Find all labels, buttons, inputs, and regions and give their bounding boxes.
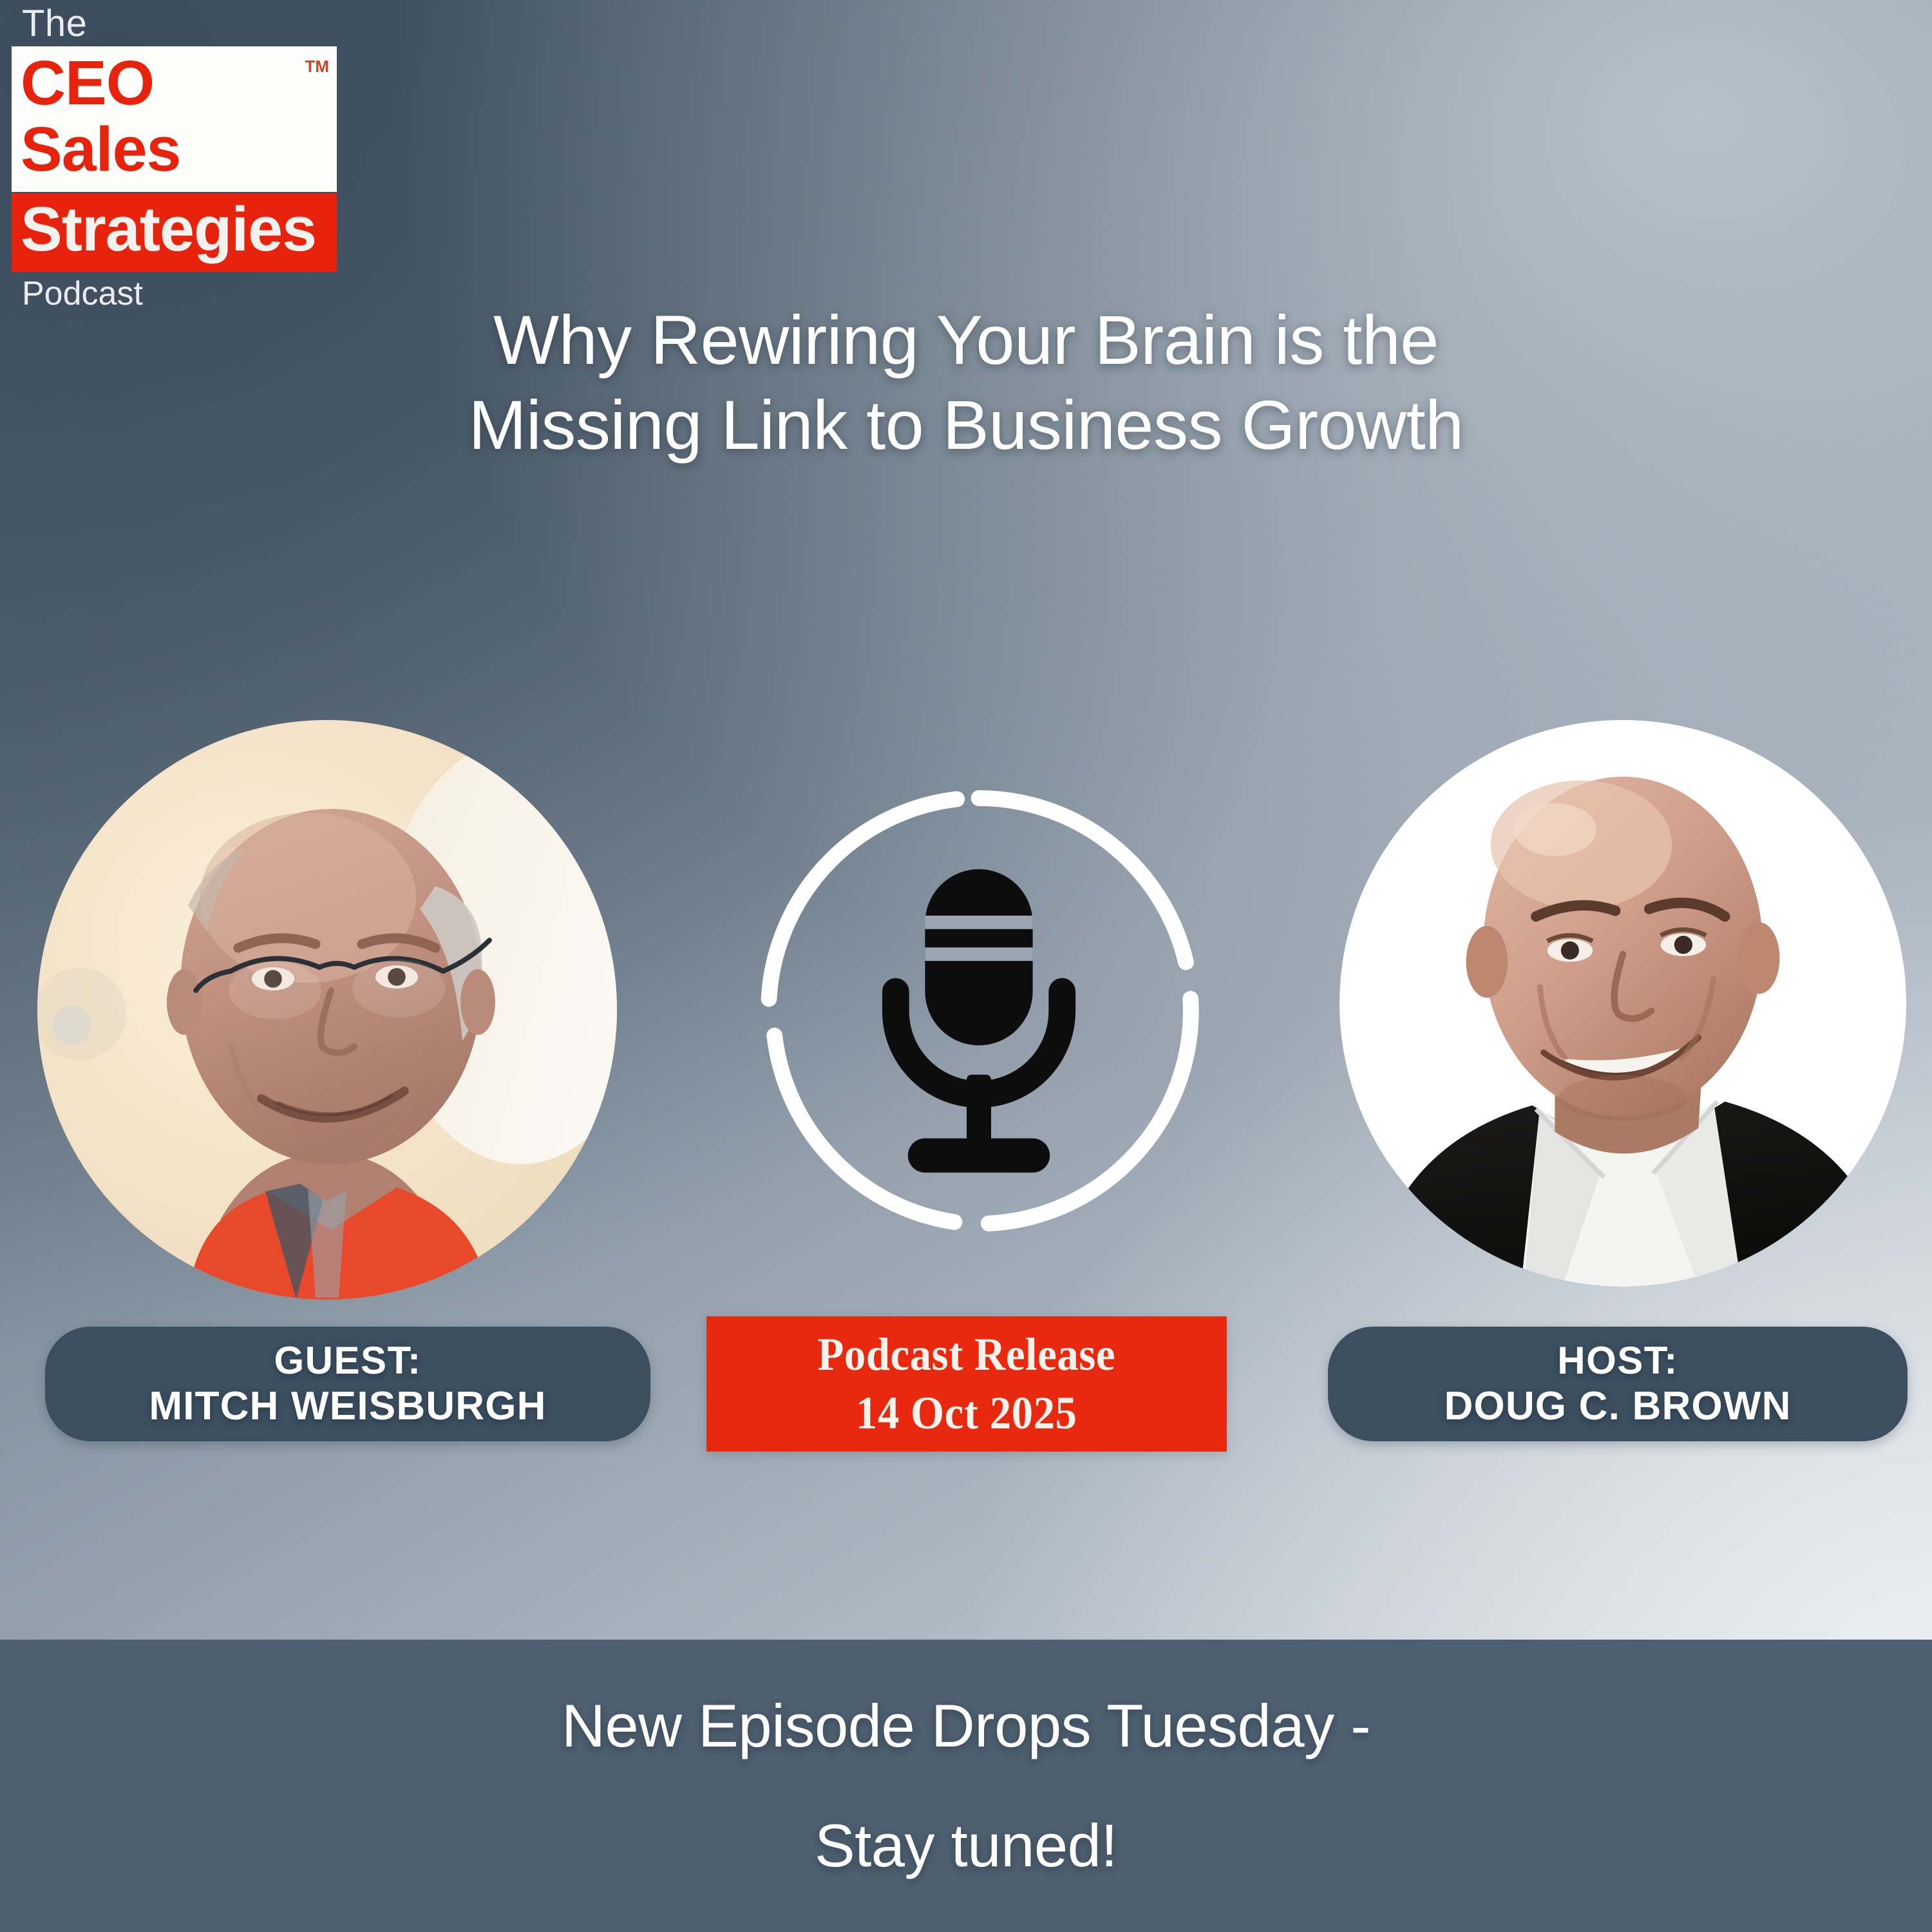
host-role-label: HOST:	[1557, 1338, 1678, 1383]
guest-role-label: GUEST:	[274, 1338, 421, 1383]
episode-title-line2: Missing Link to Business Growth	[116, 383, 1816, 468]
guest-name-label: MITCH WEISBURGH	[149, 1383, 546, 1430]
episode-title: Why Rewiring Your Brain is the Missing L…	[0, 298, 1932, 468]
footer-banner: New Episode Drops Tuesday - Stay tuned!	[0, 1640, 1932, 1932]
microphone-icon	[896, 869, 1062, 1173]
brand-name-line2-box: Strategies	[12, 193, 337, 272]
brand-name-line1: CEO Sales	[21, 50, 328, 183]
podcast-promo-graphic: The CEO Sales TM Strategies Podcast Why …	[0, 0, 1932, 1932]
brand-the-label: The	[12, 5, 353, 43]
brand-logo: The CEO Sales TM Strategies Podcast	[12, 5, 353, 310]
episode-title-line1: Why Rewiring Your Brain is the	[493, 301, 1439, 379]
trademark-icon: TM	[305, 57, 329, 77]
host-name-badge: HOST: DOUG C. BROWN	[1328, 1327, 1908, 1441]
brand-name-line1-box: CEO Sales TM	[12, 46, 337, 192]
brand-name-line2: Strategies	[21, 196, 328, 263]
release-label: Podcast Release	[818, 1325, 1116, 1384]
guest-name-badge: GUEST: MITCH WEISBURGH	[45, 1327, 650, 1441]
release-date: 14 Oct 2025	[856, 1384, 1077, 1443]
guest-avatar	[37, 720, 617, 1300]
host-name-label: DOUG C. BROWN	[1444, 1383, 1791, 1430]
podcast-mic-emblem	[734, 766, 1224, 1256]
release-date-badge: Podcast Release 14 Oct 2025	[706, 1316, 1227, 1452]
footer-line-1: New Episode Drops Tuesday -	[562, 1696, 1370, 1756]
host-avatar	[1340, 720, 1906, 1287]
footer-line-2: Stay tuned!	[815, 1815, 1117, 1876]
